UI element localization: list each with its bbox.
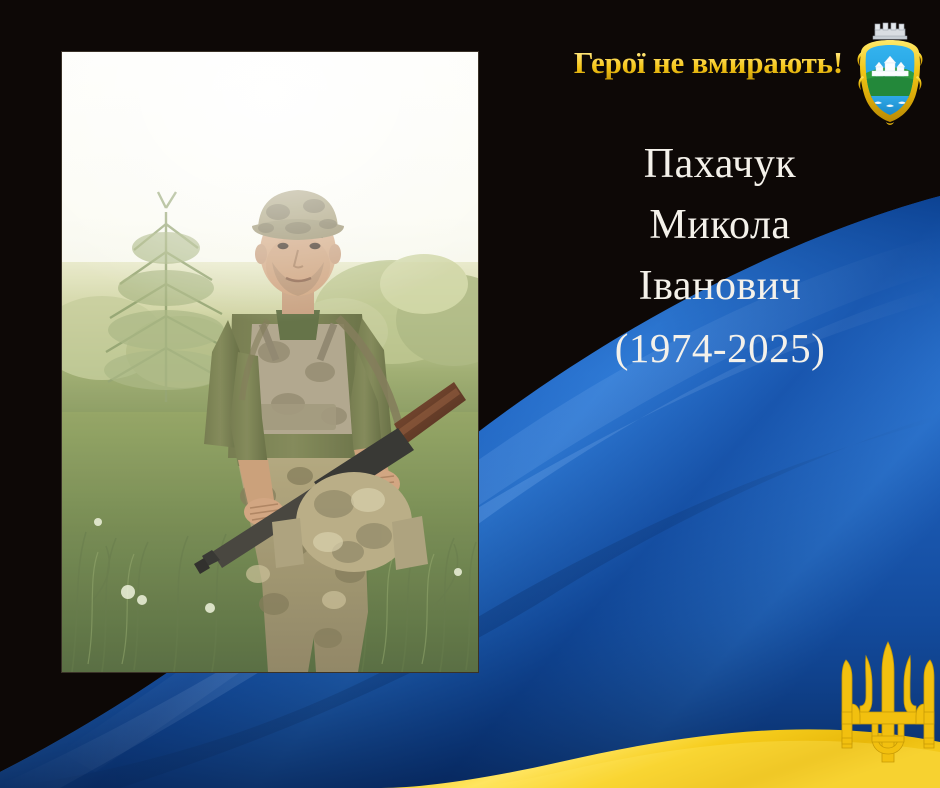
memorial-poster: Герої не вмирають! bbox=[0, 0, 940, 788]
memorial-photo bbox=[62, 52, 478, 672]
memorial-given-name: Микола bbox=[500, 195, 940, 256]
memorial-surname: Пахачук bbox=[500, 134, 940, 195]
soldier-photo-image bbox=[62, 52, 478, 672]
memorial-slogan: Герої не вмирають! bbox=[533, 46, 843, 80]
mural-crown-icon bbox=[873, 23, 907, 39]
ukraine-trident-icon bbox=[836, 638, 940, 766]
memorial-name-block: Пахачук Микола Іванович (1974-2025) bbox=[500, 134, 940, 379]
memorial-years: (1974-2025) bbox=[500, 317, 940, 379]
memorial-patronymic: Іванович bbox=[500, 256, 940, 317]
coat-of-arms-icon bbox=[856, 18, 924, 126]
